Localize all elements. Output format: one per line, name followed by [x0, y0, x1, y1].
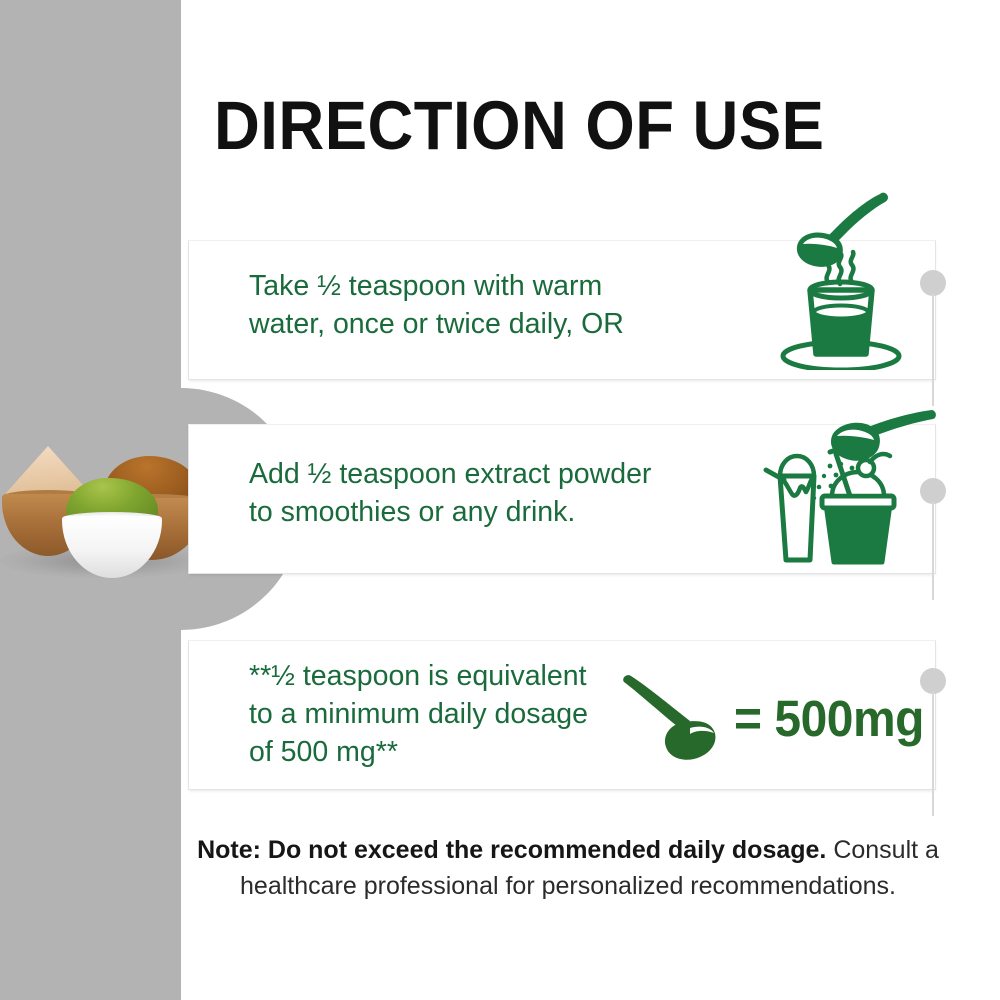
pin-stem	[932, 692, 934, 816]
pin-marker-3	[920, 668, 946, 694]
infographic-canvas: DIRECTION OF USE Take ½ teaspoon with wa…	[0, 0, 1000, 1000]
spoon-over-steaming-glass-icon	[772, 186, 940, 370]
step-text-warm-water: Take ½ teaspoon with warm water, once or…	[249, 267, 624, 343]
footer-note-bold: Note: Do not exceed the recommended dail…	[197, 836, 826, 864]
dose-equals-label: = 500mg	[734, 692, 924, 746]
step-text-dosage: **½ teaspoon is equivalent to a minimum …	[249, 657, 588, 771]
page-title: DIRECTION OF USE	[214, 90, 824, 162]
spoon-sprinkling-into-smoothies-icon	[762, 410, 940, 580]
pin-dot-icon	[920, 668, 946, 694]
step-text-smoothies: Add ½ teaspoon extract powder to smoothi…	[249, 455, 651, 531]
footer-note: Note: Do not exceed the recommended dail…	[188, 832, 948, 904]
